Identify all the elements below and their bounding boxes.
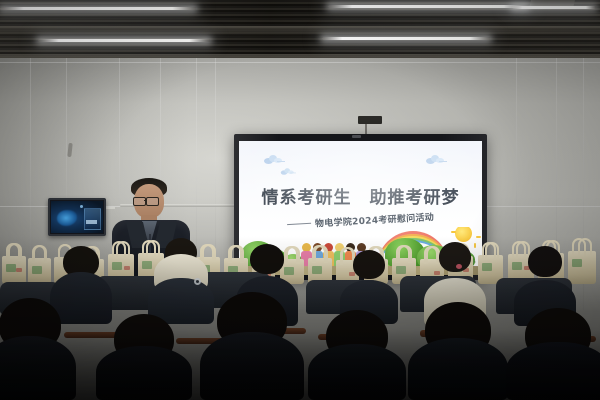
tote-bag (28, 258, 51, 284)
glasses-icon (133, 197, 146, 206)
subtitle-rule (287, 223, 311, 225)
cloud-icon (263, 155, 285, 164)
audience-area (0, 236, 600, 400)
cloud-icon (280, 168, 296, 174)
slide-title: 情系考研生 助推考研梦 (239, 183, 482, 208)
wall-display-panel (84, 208, 101, 230)
ceiling-beam (0, 26, 600, 36)
ceiling-light (328, 5, 528, 8)
ceiling-light (512, 6, 596, 9)
glasses-bridge (144, 200, 147, 201)
ceiling-light (38, 39, 210, 42)
ceiling-light (322, 37, 490, 40)
audience-member (408, 302, 508, 400)
screen-mount-bracket (358, 116, 382, 124)
screen-camera-icon (352, 135, 361, 138)
audience-member (308, 310, 406, 400)
wall-display-bar (86, 220, 97, 224)
audience-member (96, 314, 192, 400)
tote-bag (2, 256, 26, 284)
wall-display-screen (51, 201, 103, 233)
ceiling (0, 0, 600, 62)
audience-member (506, 308, 600, 400)
wall-display-graphic (57, 210, 77, 226)
cloud-icon (425, 155, 447, 164)
ceiling-light (0, 7, 196, 10)
glasses-icon (146, 197, 159, 206)
audience-member (0, 298, 76, 400)
photo-scene: 情系考研生 助推考研梦 物电学院2024考研慰问活动 (0, 0, 600, 400)
wall-display[interactable] (48, 198, 106, 236)
audience-member (200, 292, 304, 400)
wall-display-dot (80, 205, 83, 208)
